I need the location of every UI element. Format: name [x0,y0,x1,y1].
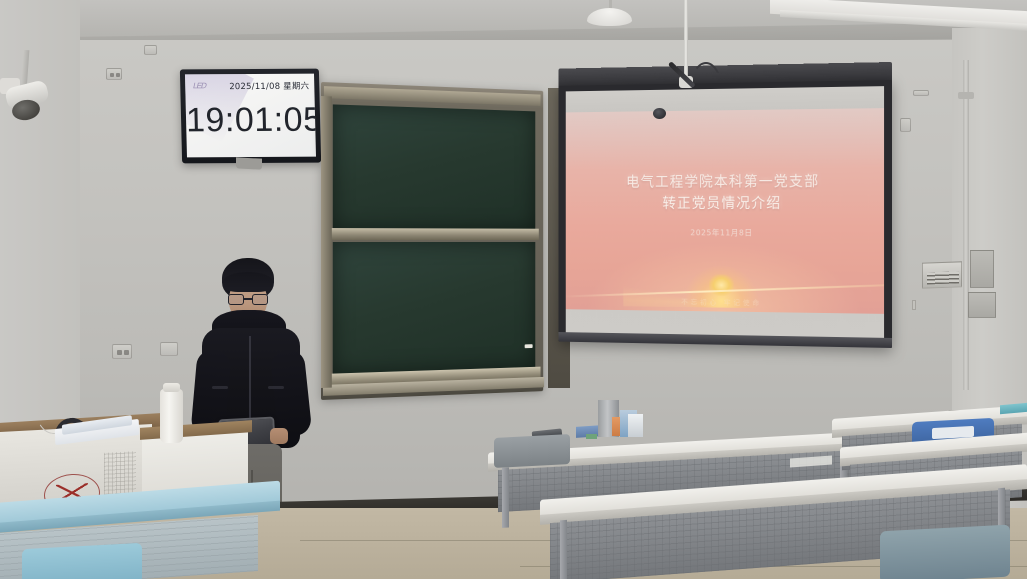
wall-conduit-plate [913,90,929,96]
pendant-light-shade [587,8,632,26]
desk-item-white-box[interactable] [628,414,643,437]
wall-switch-plate[interactable] [160,342,178,356]
wall-notice-box [970,250,994,288]
blackboard-lower-panel [333,242,535,375]
microphone-pole [684,0,688,80]
jacket-pocket-right [268,386,284,389]
slide-top-glow [566,108,884,170]
presenter-right-hand [270,428,288,444]
screen-surface: 电气工程学院本科第一党支部 转正党员情况介绍 2025年11月8日 不忘初心 牢… [566,86,884,342]
monitor-bracket [236,157,262,169]
presenter-fringe [223,272,273,292]
classroom-chair-right[interactable] [880,525,1010,579]
clock-logo: LED [192,81,207,90]
slide-footer-text: 不忘初心 牢记使命 [566,296,884,310]
clock-date-value: 2025/11/08 [229,82,280,92]
wall-outlet[interactable] [106,68,122,80]
breaker-switch-rows [927,271,959,284]
projection-screen: 电气工程学院本科第一党支部 转正党员情况介绍 2025年11月8日 不忘初心 牢… [559,62,892,352]
desk-leg [502,467,509,527]
screen-frame: 电气工程学院本科第一党支部 转正党员情况介绍 2025年11月8日 不忘初心 牢… [559,80,892,348]
chalk-piece[interactable] [525,344,533,348]
wall-sensor-plate [144,45,157,55]
classroom-scene: LED 2025/11/08 星期六 19:01:05 电气工程学院本科第一党支… [0,0,1027,579]
clock-weekday-value: 星期六 [283,82,309,92]
conduit-pipe [963,60,969,390]
presenter-glasses-icon [228,294,268,305]
glasses-lens-right [252,294,268,305]
blackboard [321,82,543,400]
desk-leg [560,520,567,579]
front-blue-chair[interactable] [22,543,142,579]
digital-clock-monitor: LED 2025/11/08 星期六 19:01:05 [180,69,321,164]
podium-speaker-grille [104,451,136,495]
glasses-lens-left [228,294,244,305]
slide-title-line1: 电气工程学院本科第一党支部 [566,170,884,192]
jacket-pocket-left [212,386,228,389]
clock-date: 2025/11/08 星期六 [229,80,309,92]
water-bottle-cap[interactable] [163,383,180,392]
wall-switch-right[interactable] [900,118,911,132]
microphone-icon [653,108,666,119]
slide-title-line2: 转正党员情况介绍 [566,192,884,213]
blackboard-middle-rail [329,228,539,240]
glasses-bridge [244,298,252,300]
desk-item-green-item[interactable] [586,434,597,439]
blackboard-left-post [321,96,332,388]
sunburst-core-icon [709,274,734,296]
wall-marker [912,300,916,310]
conduit-clip [958,92,974,99]
blackboard-upper-panel [333,104,535,230]
clock-screen: LED 2025/11/08 星期六 19:01:05 [185,74,316,158]
water-bottle[interactable] [160,389,183,443]
electrical-breaker-box[interactable] [922,261,962,288]
wall-outlet-low[interactable] [112,344,132,359]
clock-time: 19:01:05 [186,101,316,141]
wall-sign-plate [968,292,996,318]
classroom-chair-center[interactable] [494,434,570,468]
presentation-slide: 电气工程学院本科第一党支部 转正党员情况介绍 2025年11月8日 不忘初心 牢… [566,108,884,314]
